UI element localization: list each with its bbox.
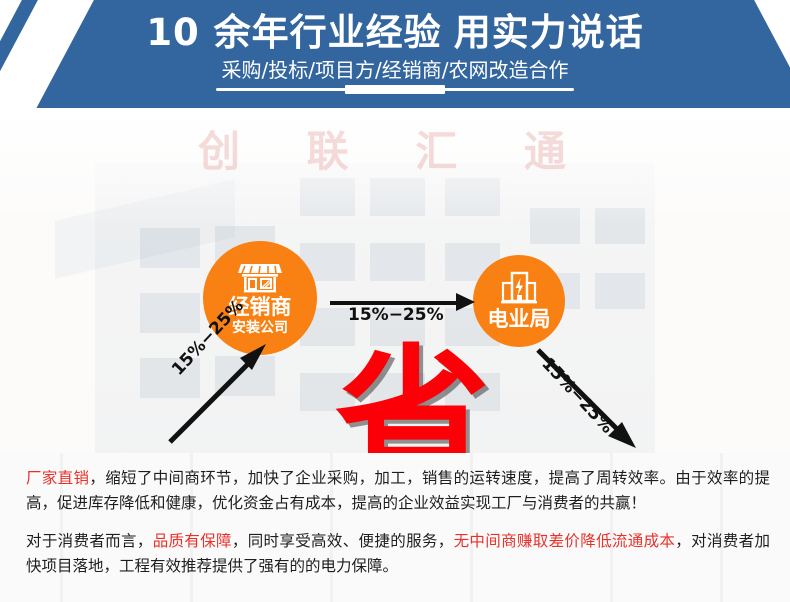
background-window <box>140 293 200 333</box>
footer-paragraph-2-part1: 对于消费者而言， <box>26 532 153 550</box>
node-dealer-sublabel: 安装公司 <box>232 320 288 336</box>
footer-highlight-direct-sales: 厂家直销 <box>26 469 89 487</box>
node-power-bureau-label: 电业局 <box>488 308 551 331</box>
header-title: 10 余年行业经验用实力说话 <box>0 12 790 54</box>
header-underline-center <box>345 85 445 94</box>
header-title-main: 10 余年行业经验 <box>146 11 441 54</box>
arrow-label-dealer-to-bureau: 15%−25% <box>348 305 444 325</box>
footer-paragraph-1: 厂家直销，缩短了中间商环节，加快了企业采购，加工，销售的运转速度，提高了周转效率… <box>26 466 770 516</box>
footer-description: 厂家直销，缩短了中间商环节，加快了企业采购，加工，销售的运转速度，提高了周转效率… <box>0 453 790 602</box>
footer-highlight-no-middleman: 无中间商赚取差价降低流通成本 <box>454 532 676 550</box>
center-save-character: 省 <box>335 346 485 453</box>
arrow-head <box>456 293 475 311</box>
footer-paragraph-2-part2: ，同时享受高效、便捷的服务， <box>232 532 454 550</box>
header-banner: 10 余年行业经验用实力说话 采购/投标/项目方/经销商/农网改造合作 <box>0 0 790 108</box>
footer-paragraph-1-rest: ，缩短了中间商环节，加快了企业采购，加工，销售的运转速度，提高了周转效率。由于效… <box>26 469 770 512</box>
power-building-icon <box>499 271 539 305</box>
node-power-bureau[interactable]: 电业局 <box>473 255 565 347</box>
footer-paragraph-2: 对于消费者而言，品质有保障，同时享受高效、便捷的服务，无中间商赚取差价降低流通成… <box>26 529 770 579</box>
background-window <box>370 243 425 281</box>
storefront-icon <box>238 261 282 293</box>
promo-banner-page: 10 余年行业经验用实力说话 采购/投标/项目方/经销商/农网改造合作 <box>0 0 790 602</box>
header-subtitle: 采购/投标/项目方/经销商/农网改造合作 <box>0 58 790 82</box>
brand-watermark: 创 联 汇 通 <box>0 118 790 179</box>
flow-diagram: 创 联 汇 通 省 经销商 安装公司 <box>0 108 790 453</box>
footer-highlight-quality: 品质有保障 <box>153 532 232 550</box>
background-window <box>595 273 645 309</box>
header-title-sub: 用实力说话 <box>454 11 644 54</box>
